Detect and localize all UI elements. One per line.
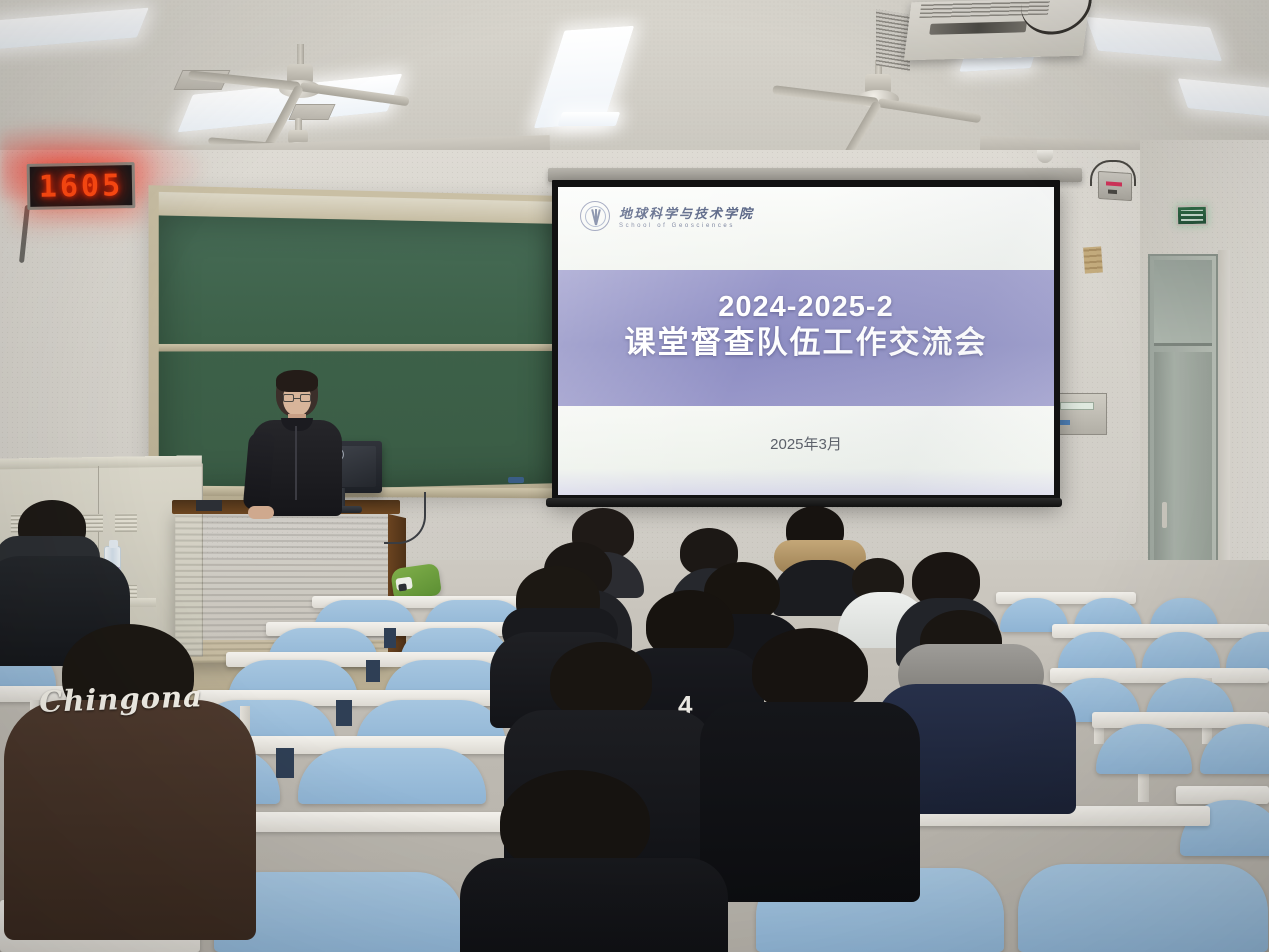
seat xyxy=(298,748,486,804)
classroom-door[interactable] xyxy=(1148,254,1218,606)
glasses-lens xyxy=(283,394,294,402)
seat-gap xyxy=(366,660,380,682)
chalkboard-divider xyxy=(159,344,555,351)
person-hair xyxy=(752,628,868,712)
glasses-lens xyxy=(300,394,311,402)
person-jacket xyxy=(700,702,920,902)
fluorescent-light-panel xyxy=(558,112,621,126)
projector-cable xyxy=(1017,0,1093,35)
slide-title: 2024-2025-2 课堂督查队伍工作交流会 xyxy=(558,290,1054,363)
fan-rod xyxy=(297,44,304,66)
audience-member xyxy=(700,628,900,878)
digital-led-clock: 1605 xyxy=(27,162,136,210)
seat xyxy=(1018,864,1268,952)
door-handle[interactable] xyxy=(1162,502,1167,528)
presenter-glasses xyxy=(283,394,311,402)
door-jamb xyxy=(1218,250,1230,610)
school-name-en: School of Geosciences xyxy=(619,223,754,229)
projector-ports xyxy=(929,21,1027,35)
seat-gap xyxy=(336,700,352,726)
slide-title-line1: 2024-2025-2 xyxy=(558,290,1054,324)
presenter-at-podium xyxy=(250,370,342,515)
projection-screen-frame: 地球科学与技术学院 School of Geosciences 2024-202… xyxy=(552,180,1060,502)
clock-digits: 1605 xyxy=(39,168,124,204)
slide-date: 2025年3月 xyxy=(558,433,1054,454)
school-logo-text: 地球科学与技术学院 School of Geosciences xyxy=(619,203,754,229)
projector-grille xyxy=(876,9,910,70)
control-box-switch xyxy=(1108,190,1117,195)
wall-bracket xyxy=(1083,246,1103,273)
slide-title-line2: 课堂督查队伍工作交流会 xyxy=(558,324,1054,363)
ceiling-projector xyxy=(904,0,1090,60)
presenter-zipper xyxy=(295,426,297,500)
projection-screen: 地球科学与技术学院 School of Geosciences 2024-202… xyxy=(558,187,1054,495)
door-transom-window xyxy=(1154,260,1212,346)
control-box-indicator xyxy=(1106,181,1122,186)
chalk-holder xyxy=(508,477,524,483)
school-name-cn: 地球科学与技术学院 xyxy=(619,203,754,222)
emergency-exit-sign xyxy=(1176,205,1208,227)
electrical-control-box xyxy=(1098,171,1132,201)
person-hair xyxy=(550,642,652,720)
exit-sign-text xyxy=(1181,210,1203,221)
panel-label xyxy=(1060,402,1094,410)
chingona-jacket xyxy=(4,700,256,940)
classroom-scene: 1605 地球科学与技术学院 xyxy=(0,0,1269,952)
audience-member xyxy=(460,770,720,952)
presenter-hair xyxy=(276,370,318,392)
seat-gap xyxy=(276,748,294,778)
presenter-hand xyxy=(248,506,274,519)
school-seal-icon xyxy=(580,201,610,231)
seat-gap xyxy=(384,628,396,648)
bag-detail xyxy=(398,583,407,591)
school-logo: 地球科学与技术学院 School of Geosciences xyxy=(580,201,754,231)
person-jacket xyxy=(460,858,728,952)
audience-member-foreground: Chingona xyxy=(0,624,270,952)
